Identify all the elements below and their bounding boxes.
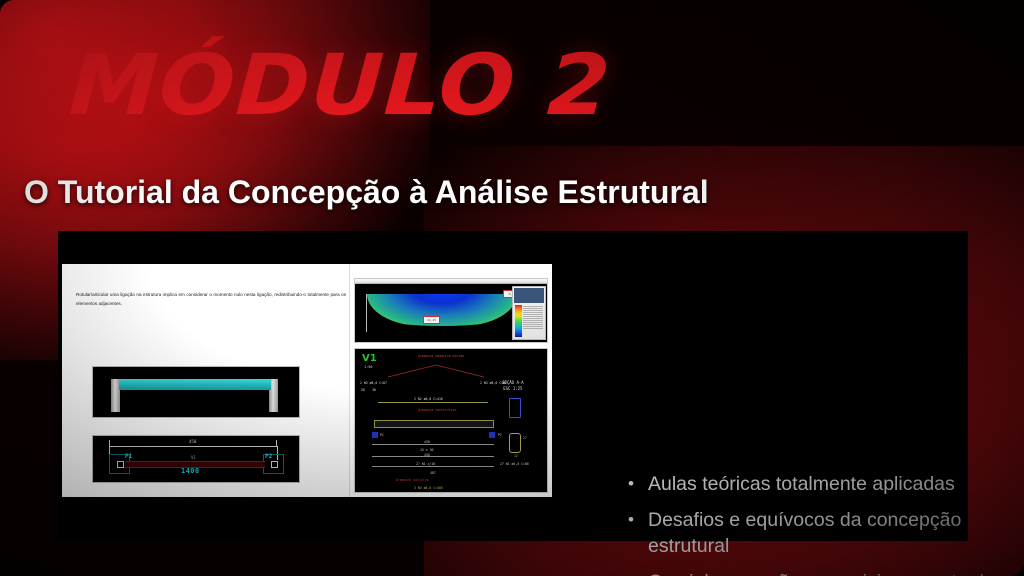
bullet-dot-icon: • <box>626 471 636 498</box>
detail-stirrup-label-2: 12 <box>514 454 518 458</box>
figure-cad-plan: 450 P1 P2 V1 1400 <box>92 435 300 483</box>
detail-tick-20: 20 <box>361 388 365 392</box>
module-title: MÓDULO 2 <box>67 43 613 127</box>
detail-section-dims: 15 x 30 <box>420 448 433 452</box>
fea-support-line-left <box>366 294 367 332</box>
detail-rebar-constructive: 2 N2 ø8,0 C=416 <box>414 397 443 401</box>
detail-annotation-positive: Armadura positiva <box>396 478 429 482</box>
plan-label-v1: V1 <box>191 455 196 460</box>
detail-section-scale-text: ESC 1:25 <box>503 386 522 391</box>
detail-section-rectangle <box>509 398 521 418</box>
slide-root: MÓDULO 2 O Tutorial da Concepção à Análi… <box>0 0 1024 576</box>
bullet-text: Caminho as ações e posicionamento dos el… <box>648 569 1024 576</box>
detail-dim-line-3 <box>372 466 494 467</box>
detail-tick-30: 30 <box>372 388 376 392</box>
software-screenshot: Rotular/articular uma ligação na estrutu… <box>62 264 552 497</box>
detail-dim-line-1 <box>372 444 494 445</box>
slide-subtitle: O Tutorial da Concepção à Análise Estrut… <box>24 172 709 212</box>
bullet-item: •Caminho as ações e posicionamento dos e… <box>626 569 1024 576</box>
fea-legend-values <box>523 305 543 337</box>
bullet-dot-icon: • <box>626 569 636 576</box>
fea-color-legend <box>512 286 546 340</box>
render-beam <box>119 379 271 390</box>
figure-3d-beam-render <box>92 366 300 418</box>
detail-label-p2: P2 <box>498 433 502 437</box>
fea-window-titlebar[interactable] <box>355 279 547 284</box>
fea-legend-swatches <box>515 305 522 337</box>
detail-dim-1: 430 <box>424 440 430 444</box>
detail-annotation-constructive: Armadura construtiva <box>418 408 456 412</box>
content-panel: Rotular/articular uma ligação na estrutu… <box>58 231 968 541</box>
bullet-text: Aulas teóricas totalmente aplicadas <box>648 471 1024 498</box>
fea-legend-header <box>514 288 544 303</box>
bullet-dot-icon: • <box>626 507 636 560</box>
detail-dim-3: 27 N1 c/16 <box>416 462 435 466</box>
fea-canvas: -0,86 12,45 <box>357 286 510 340</box>
detail-negative-leader <box>386 364 486 378</box>
fea-tag-midspan: 12,45 <box>423 316 440 324</box>
detail-stirrup-shape <box>509 433 521 453</box>
detail-rebar-constructive-line <box>378 402 488 403</box>
document-column: Rotular/articular uma ligação na estrutu… <box>62 264 350 497</box>
detail-dim-2: 430 <box>424 453 430 457</box>
document-note-text: Rotular/articular uma ligação na estrutu… <box>76 290 346 308</box>
detail-support-p1 <box>372 432 378 438</box>
detail-rebar-left: 2 N3 ø8,0 C=87 <box>360 381 387 385</box>
plan-dimension-line <box>109 446 277 447</box>
detail-rebar-positive: 3 N4 ø8,0 C=485 <box>414 486 443 490</box>
cad-detail-canvas: V1 1:50 Armadura negativa mínima 2 N3 ø8… <box>356 350 546 491</box>
bullet-list: •Aulas teóricas totalmente aplicadas•Des… <box>626 471 1024 576</box>
detail-scale: 1:50 <box>364 365 372 369</box>
bullet-item: •Desafios e equívocos da concepção estru… <box>626 507 1024 560</box>
plan-label-p1: P1 <box>125 453 132 460</box>
plan-dim-450: 450 <box>189 439 196 444</box>
detail-dim-4: 487 <box>430 471 436 475</box>
detail-section-dims-b: 27 N1 ø5,0 C=86 <box>500 462 529 466</box>
detail-support-p2 <box>489 432 495 438</box>
bullet-item: •Aulas teóricas totalmente aplicadas <box>626 471 1024 498</box>
detail-section-title: SEÇÃO A-A ESC 1:25 <box>502 380 524 392</box>
detail-label-p1: P1 <box>380 433 384 437</box>
detail-stirrup-label: 27 <box>523 436 527 440</box>
detail-beam-body <box>374 420 494 428</box>
fea-window[interactable]: -0,86 12,45 <box>354 278 548 343</box>
detail-beam-name: V1 <box>362 353 377 364</box>
plan-label-span: 1400 <box>181 467 199 475</box>
detail-dim-line-2 <box>372 456 494 457</box>
bullet-text: Desafios e equívocos da concepção estrut… <box>648 507 1024 560</box>
detail-annotation-negative: Armadura negativa mínima <box>418 354 464 358</box>
detail-section-title-text: SEÇÃO A-A <box>502 380 524 385</box>
fea-bending-moment-diagram <box>367 294 517 326</box>
plan-label-p2: P2 <box>265 453 272 460</box>
cad-detail-window[interactable]: V1 1:50 Armadura negativa mínima 2 N3 ø8… <box>354 348 548 493</box>
